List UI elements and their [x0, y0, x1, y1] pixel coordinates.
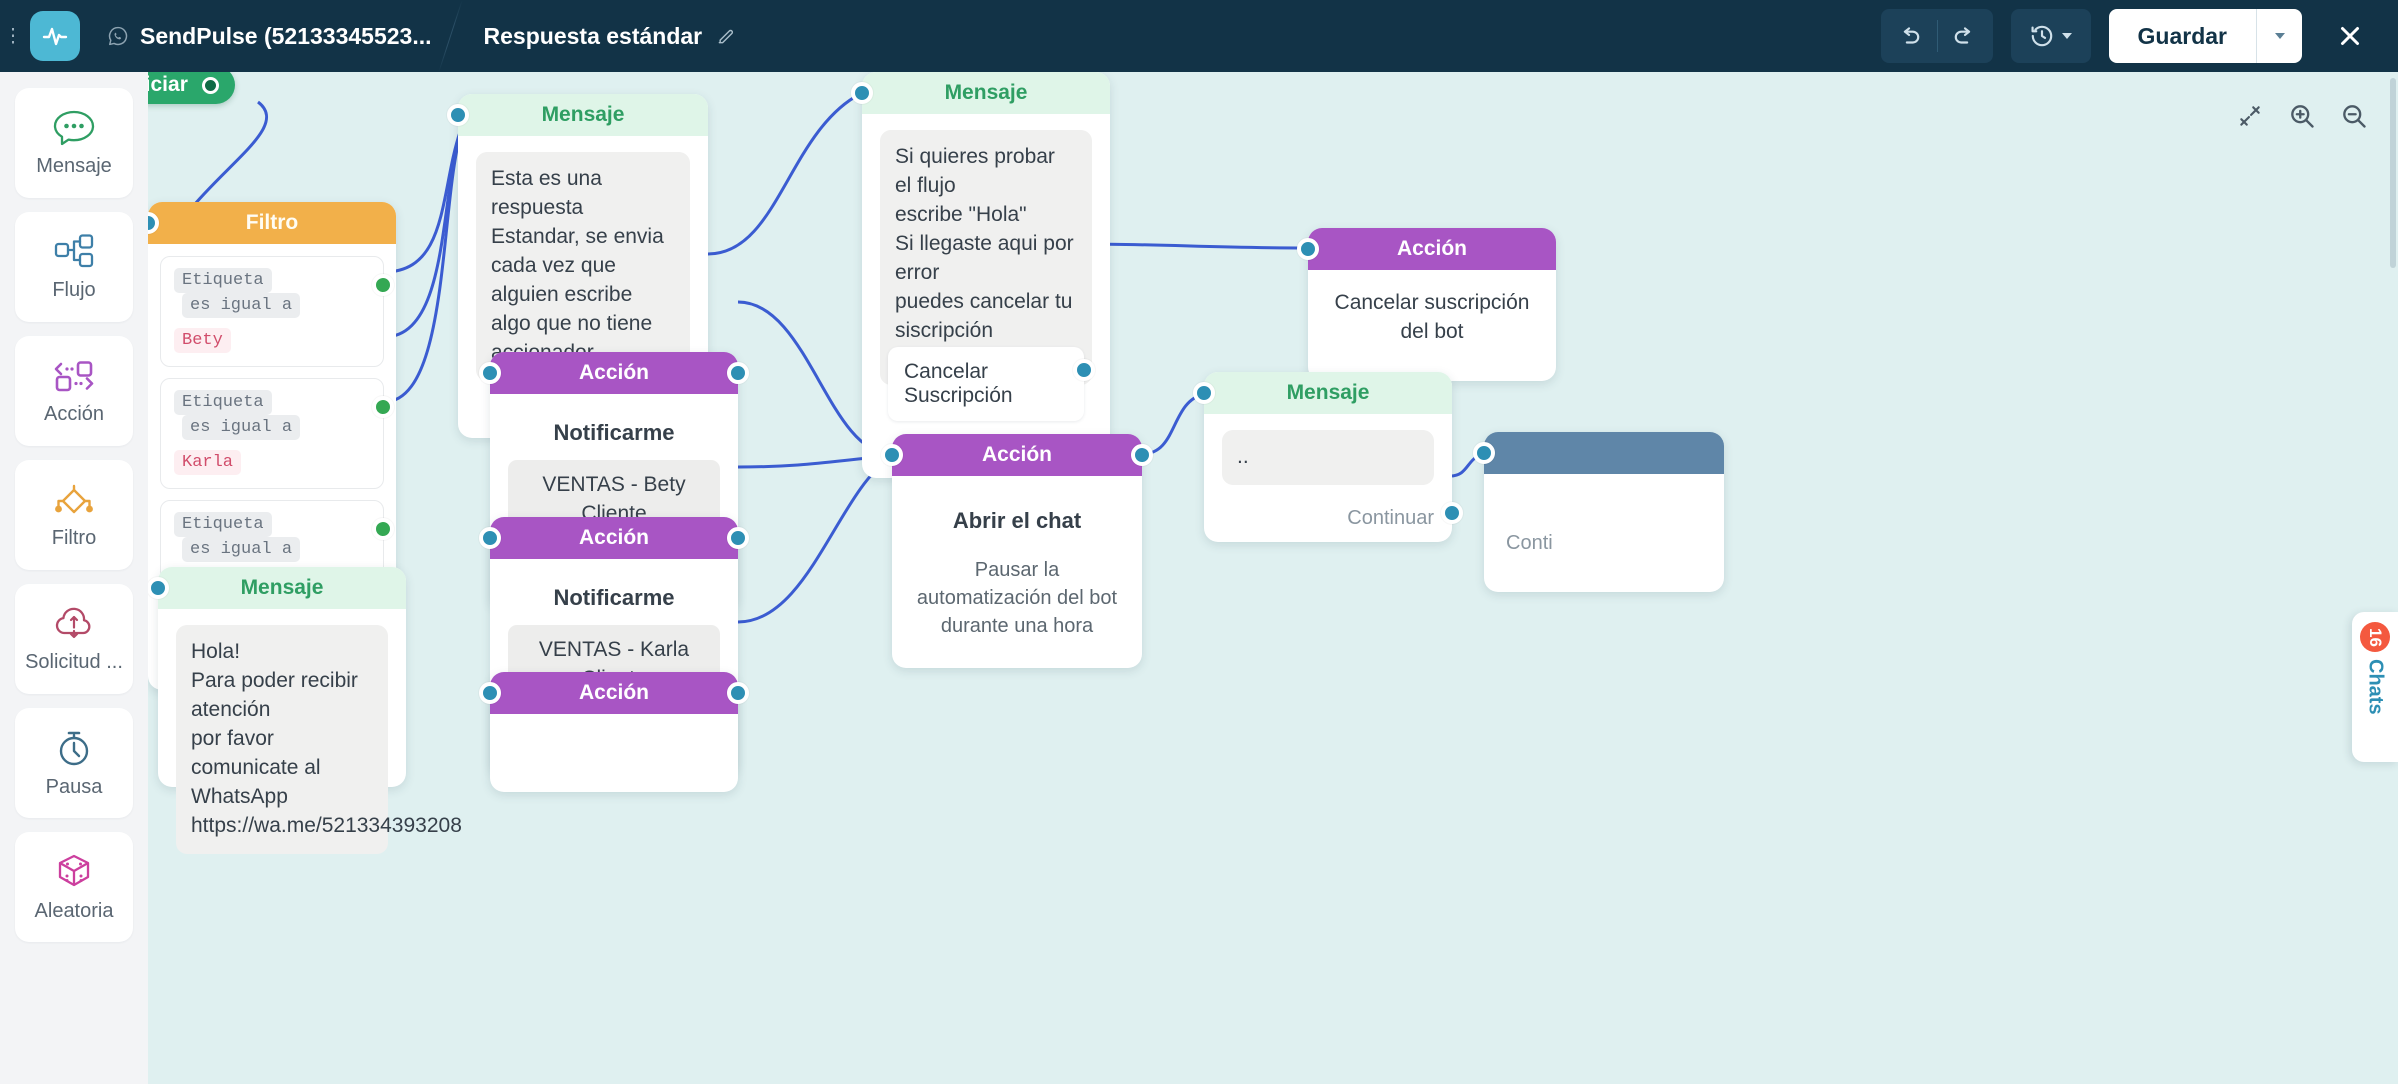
node-input-port[interactable] — [1473, 442, 1495, 464]
message-quick-reply-button[interactable]: Cancelar Suscripción — [888, 347, 1084, 421]
whatsapp-icon — [107, 25, 129, 47]
history-clock-icon[interactable] — [2011, 9, 2091, 63]
flow-name-label: Respuesta estándar — [484, 23, 703, 50]
zoom-in-icon[interactable] — [2276, 90, 2328, 142]
action-title: Cancelar suscripción del bot — [1324, 288, 1540, 347]
node-header-label: Mensaje — [862, 72, 1110, 114]
node-input-port[interactable] — [1193, 382, 1215, 404]
node-mensaje-hola[interactable]: Mensaje Hola! Para poder recibir atenció… — [158, 567, 406, 787]
sidebar-item-label: Aleatoria — [35, 900, 114, 923]
drag-handle-icon[interactable]: ⋮ — [0, 0, 26, 72]
filter-condition-row[interactable]: Etiqueta es igual a Bety — [160, 256, 384, 367]
node-input-port[interactable] — [1297, 238, 1319, 260]
node-input-port[interactable] — [881, 444, 903, 466]
sidebar-item-accion[interactable]: Acción — [15, 336, 133, 446]
close-icon[interactable] — [2324, 10, 2376, 62]
dice-cube-icon — [52, 851, 96, 893]
filter-output-port-green[interactable] — [372, 518, 394, 540]
continue-label: Continuar — [1347, 507, 1434, 530]
node-header-label: Acción — [490, 352, 738, 394]
canvas-zoom-controls — [2224, 90, 2380, 142]
action-subtitle: Pausar la automatización del bot durante… — [908, 556, 1126, 640]
pencil-icon[interactable] — [716, 26, 736, 46]
node-input-port[interactable] — [447, 104, 469, 126]
node-input-port[interactable] — [479, 527, 501, 549]
filter-operator-token: es igual a — [182, 293, 300, 318]
chats-tab-label: Chats — [2364, 659, 2387, 715]
node-header-label: Acción — [892, 434, 1142, 476]
node-header-label: Mensaje — [158, 567, 406, 609]
start-node-label: Iniciar — [148, 73, 188, 97]
breadcrumb-account[interactable]: SendPulse (52133345523... — [107, 23, 432, 50]
filter-operator-token: es igual a — [182, 415, 300, 440]
breadcrumb-flow[interactable]: Respuesta estándar — [484, 23, 737, 50]
chevron-down-icon — [2062, 33, 2072, 39]
save-button[interactable]: Guardar — [2109, 9, 2302, 63]
node-output-port[interactable] — [727, 527, 749, 549]
canvas-vertical-scrollbar[interactable] — [2390, 78, 2396, 268]
node-header-label: Mensaje — [458, 94, 708, 136]
node-header-label: Acción — [490, 517, 738, 559]
account-name-label: SendPulse (52133345523... — [140, 23, 432, 50]
node-body: Si quieres probar el flujo escribe "Hola… — [862, 114, 1110, 433]
node-accion-tercera[interactable]: Acción — [490, 672, 738, 792]
sidebar-item-filtro[interactable]: Filtro — [15, 460, 133, 570]
redo-icon[interactable] — [1937, 9, 1993, 63]
fit-to-screen-icon[interactable] — [2224, 90, 2276, 142]
node-mensaje-dots[interactable]: Mensaje .. Continuar — [1204, 372, 1452, 542]
sidebar-item-label: Pausa — [46, 776, 103, 799]
filter-operator-token: es igual a — [182, 537, 300, 562]
start-output-port[interactable] — [202, 77, 219, 94]
header-actions: Guardar — [1881, 9, 2398, 63]
zoom-out-icon[interactable] — [2328, 90, 2380, 142]
quick-reply-label: Cancelar Suscripción — [904, 360, 1013, 407]
filter-condition-row[interactable]: Etiqueta es igual a Karla — [160, 378, 384, 489]
filter-output-port-green[interactable] — [372, 396, 394, 418]
breadcrumb-separator — [432, 0, 484, 72]
node-body: Hola! Para poder recibir atención por fa… — [158, 609, 406, 866]
node-output-port[interactable] — [1441, 502, 1463, 524]
filter-value-token: Karla — [174, 450, 241, 475]
flow-canvas[interactable]: Iniciar Filtro Etiqueta es igual a Bety … — [148, 72, 2398, 1084]
node-body: .. — [1204, 414, 1452, 497]
action-title: Abrir el chat — [908, 508, 1126, 534]
filter-value-token: Bety — [174, 328, 231, 353]
node-header-label: Mensaje — [1204, 372, 1452, 414]
continue-label: Conti — [1506, 532, 1553, 555]
sidebar-item-label: Filtro — [52, 527, 96, 550]
sidebar-item-label: Solicitud ... — [25, 651, 123, 674]
message-text: Hola! Para poder recibir atención por fa… — [176, 625, 388, 854]
node-accion-abrir-chat[interactable]: Acción Abrir el chat Pausar la automatiz… — [892, 434, 1142, 668]
filter-field-token: Etiqueta — [174, 390, 272, 415]
chevron-down-icon — [2275, 33, 2285, 39]
quick-reply-output-port[interactable] — [1073, 359, 1095, 381]
filter-diamond-icon — [49, 480, 99, 520]
node-output-port[interactable] — [1131, 444, 1153, 466]
chat-bubble-icon — [51, 108, 97, 148]
chats-unread-badge: 16 — [2360, 622, 2390, 652]
action-title: Notificarme — [508, 420, 720, 446]
action-arrows-icon — [49, 356, 99, 396]
chats-panel-tab[interactable]: 16 Chats — [2352, 612, 2398, 762]
message-text: Esta es una respuesta Estandar, se envia… — [476, 152, 690, 381]
action-title: Notificarme — [508, 585, 720, 611]
node-output-port[interactable] — [727, 362, 749, 384]
node-input-port[interactable] — [148, 577, 169, 599]
node-header-label: Acción — [490, 672, 738, 714]
stopwatch-icon — [52, 727, 96, 769]
node-continue-row[interactable]: Conti — [1484, 474, 1724, 567]
pulse-logo-icon[interactable] — [30, 11, 80, 61]
node-input-port[interactable] — [479, 362, 501, 384]
node-filtro-header: Filtro — [148, 202, 396, 244]
top-header-bar: ⋮ SendPulse (52133345523... Respuesta es… — [0, 0, 2398, 72]
sidebar-item-label: Flujo — [52, 279, 95, 302]
sidebar-item-pausa[interactable]: Pausa — [15, 708, 133, 818]
sidebar-item-flujo[interactable]: Flujo — [15, 212, 133, 322]
sidebar-item-label: Acción — [44, 403, 104, 426]
flow-nodes-icon — [51, 232, 97, 272]
left-tool-sidebar: Mensaje Flujo Acción — [0, 72, 148, 1084]
node-body: Cancelar suscripción del bot — [1308, 270, 1556, 381]
node-partial-right[interactable]: Conti — [1484, 432, 1724, 592]
filter-output-port-green[interactable] — [372, 274, 394, 296]
filter-field-token: Etiqueta — [174, 512, 272, 537]
node-continue-row[interactable]: Continuar — [1204, 497, 1452, 542]
save-button-label: Guardar — [2109, 9, 2256, 63]
save-dropdown-button[interactable] — [2256, 9, 2302, 63]
node-body: Abrir el chat Pausar la automatización d… — [892, 476, 1142, 668]
sidebar-item-solicitud[interactable]: Solicitud ... — [15, 584, 133, 694]
node-header-label: Acción — [1308, 228, 1556, 270]
node-header-label — [1484, 432, 1724, 474]
cloud-request-icon — [51, 604, 97, 644]
node-output-port[interactable] — [727, 682, 749, 704]
start-node[interactable]: Iniciar — [148, 72, 235, 104]
undo-icon[interactable] — [1881, 9, 1937, 63]
node-accion-cancelar[interactable]: Acción Cancelar suscripción del bot — [1308, 228, 1556, 381]
node-input-port[interactable] — [851, 82, 873, 104]
node-mensaje-probar[interactable]: Mensaje Si quieres probar el flujo escri… — [862, 72, 1110, 478]
node-input-port[interactable] — [479, 682, 501, 704]
sidebar-item-mensaje[interactable]: Mensaje — [15, 88, 133, 198]
sidebar-item-aleatoria[interactable]: Aleatoria — [15, 832, 133, 942]
filter-field-token: Etiqueta — [174, 268, 272, 293]
message-text: .. — [1222, 430, 1434, 485]
sidebar-item-label: Mensaje — [36, 155, 112, 178]
